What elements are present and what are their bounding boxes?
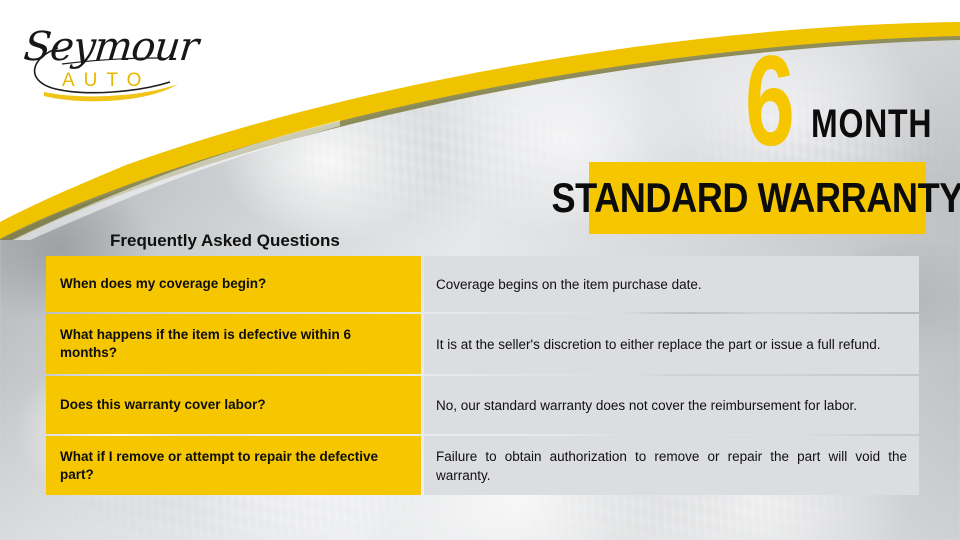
warranty-duration-unit: MONTH <box>811 104 932 144</box>
standard-warranty-banner-label: STANDARD WARRANTY <box>552 177 960 219</box>
faq-question-cell: When does my coverage begin? <box>46 256 421 312</box>
table-row: Does this warranty cover labor? No, our … <box>46 376 919 434</box>
table-row: What happens if the item is defective wi… <box>46 314 919 374</box>
faq-answer-text: Failure to obtain authorization to remov… <box>436 447 907 485</box>
faq-answer-cell: Failure to obtain authorization to remov… <box>424 436 919 495</box>
faq-answer-cell: No, our standard warranty does not cover… <box>424 376 919 434</box>
faq-answer-text: No, our standard warranty does not cover… <box>436 396 907 415</box>
faq-answer-text: It is at the seller's discretion to eith… <box>436 335 907 354</box>
table-row: When does my coverage begin? Coverage be… <box>46 256 919 312</box>
standard-warranty-banner: STANDARD WARRANTY <box>589 162 926 234</box>
faq-question-text: What if I remove or attempt to repair th… <box>60 448 407 484</box>
faq-question-cell: What if I remove or attempt to repair th… <box>46 436 421 495</box>
warranty-slide: Seymour AUTO 6 MONTH STANDARD WARRANTY F… <box>0 0 960 540</box>
faq-question-cell: What happens if the item is defective wi… <box>46 314 421 374</box>
faq-heading: Frequently Asked Questions <box>110 231 340 251</box>
faq-table: When does my coverage begin? Coverage be… <box>46 256 919 495</box>
faq-question-text: What happens if the item is defective wi… <box>60 326 407 362</box>
faq-question-text: When does my coverage begin? <box>60 275 266 293</box>
warranty-duration-number: 6 <box>745 38 793 166</box>
faq-question-text: Does this warranty cover labor? <box>60 396 266 414</box>
table-row: What if I remove or attempt to repair th… <box>46 436 919 495</box>
faq-answer-cell: It is at the seller's discretion to eith… <box>424 314 919 374</box>
brand-logo[interactable]: Seymour AUTO <box>18 18 188 106</box>
faq-question-cell: Does this warranty cover labor? <box>46 376 421 434</box>
faq-answer-text: Coverage begins on the item purchase dat… <box>436 275 907 294</box>
faq-answer-cell: Coverage begins on the item purchase dat… <box>424 256 919 312</box>
